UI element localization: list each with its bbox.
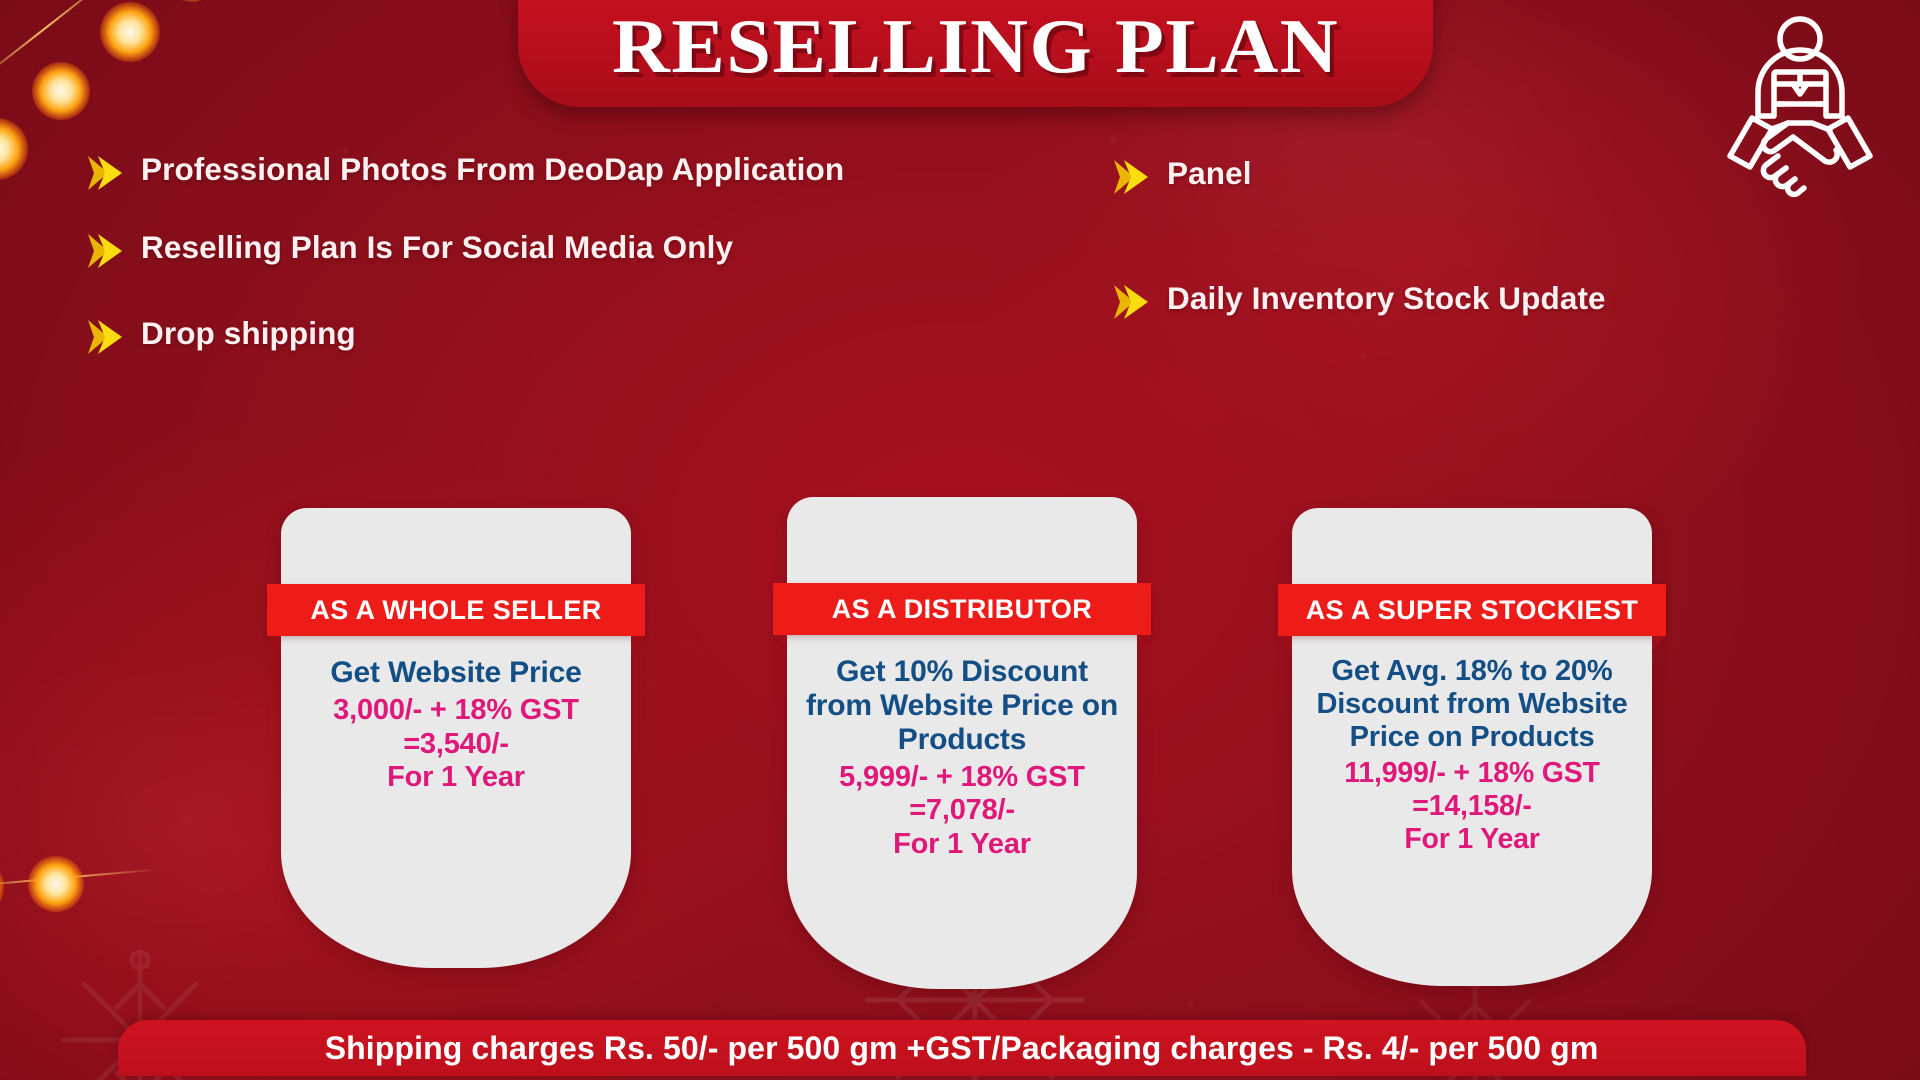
light-bulb bbox=[0, 118, 28, 180]
plan-duration-line: For 1 Year bbox=[295, 761, 617, 795]
pricing-card-group: AS A WHOLE SELLER Get Website Price 3,00… bbox=[0, 497, 1920, 989]
feature-label: Professional Photos From DeoDap Applicat… bbox=[141, 150, 844, 188]
ribbon-fold-right bbox=[1652, 636, 1666, 652]
plan-duration-line: For 1 Year bbox=[801, 828, 1123, 862]
feature-column-left: Professional Photos From DeoDap Applicat… bbox=[86, 150, 1036, 403]
plan-total-line: =7,078/- bbox=[801, 794, 1123, 828]
feature-item: Drop shipping bbox=[86, 314, 1036, 356]
light-bulb bbox=[100, 2, 160, 62]
plan-headline: Get Website Price bbox=[295, 656, 617, 690]
light-bulb bbox=[32, 62, 90, 120]
plan-body: Get Avg. 18% to 20% Discount from Websit… bbox=[1292, 655, 1652, 856]
double-chevron-right-icon bbox=[1112, 283, 1154, 321]
double-chevron-right-icon bbox=[86, 154, 128, 192]
plan-title: AS A WHOLE SELLER bbox=[310, 595, 601, 626]
poster-canvas: RESELLING PLAN bbox=[0, 0, 1920, 1080]
ribbon-fold-left bbox=[1278, 636, 1292, 652]
ribbon-fold-right bbox=[1137, 635, 1151, 651]
double-chevron-right-icon bbox=[86, 318, 128, 356]
double-chevron-right-icon bbox=[1112, 158, 1154, 196]
feature-item: Professional Photos From DeoDap Applicat… bbox=[86, 150, 1036, 192]
plan-total-line: =14,158/- bbox=[1306, 790, 1638, 823]
plan-ribbon: AS A SUPER STOCKIEST bbox=[1278, 584, 1666, 636]
feature-label: Drop shipping bbox=[141, 314, 356, 352]
title-banner: RESELLING PLAN bbox=[518, 0, 1433, 107]
double-chevron-right-icon bbox=[86, 232, 128, 270]
pricing-card-distributor[interactable]: AS A DISTRIBUTOR Get 10% Discount from W… bbox=[787, 497, 1137, 989]
feature-label: Reselling Plan Is For Social Media Only bbox=[141, 228, 733, 266]
feature-label: Panel bbox=[1167, 154, 1252, 192]
light-bulb bbox=[166, 0, 218, 2]
plan-price-line: 11,999/- + 18% GST bbox=[1306, 757, 1638, 790]
plan-headline: Get Avg. 18% to 20% Discount from Websit… bbox=[1306, 655, 1638, 753]
pricing-card-super-stockiest[interactable]: AS A SUPER STOCKIEST Get Avg. 18% to 20%… bbox=[1292, 508, 1652, 986]
pricing-card-whole-seller[interactable]: AS A WHOLE SELLER Get Website Price 3,00… bbox=[281, 508, 631, 968]
ribbon-fold-left bbox=[267, 636, 281, 652]
plan-ribbon: AS A DISTRIBUTOR bbox=[773, 583, 1151, 635]
feature-label: Daily Inventory Stock Update bbox=[1167, 279, 1606, 317]
plan-ribbon: AS A WHOLE SELLER bbox=[267, 584, 645, 636]
ribbon-fold-left bbox=[773, 635, 787, 651]
ribbon-fold-right bbox=[631, 636, 645, 652]
plan-title: AS A DISTRIBUTOR bbox=[832, 594, 1092, 625]
feature-item: Daily Inventory Stock Update bbox=[1112, 279, 1852, 321]
plan-price-line: 3,000/- + 18% GST bbox=[295, 694, 617, 728]
plan-headline: Get 10% Discount from Website Price on P… bbox=[801, 655, 1123, 757]
page-title: RESELLING PLAN bbox=[612, 8, 1339, 107]
shipping-charges-bar: Shipping charges Rs. 50/- per 500 gm +GS… bbox=[118, 1020, 1806, 1076]
feature-item: Panel bbox=[1112, 154, 1852, 196]
plan-duration-line: For 1 Year bbox=[1306, 823, 1638, 856]
feature-item: Reselling Plan Is For Social Media Only bbox=[86, 228, 1036, 270]
plan-title: AS A SUPER STOCKIEST bbox=[1306, 595, 1639, 626]
plan-body: Get Website Price 3,000/- + 18% GST =3,5… bbox=[281, 656, 631, 795]
feature-column-right: Panel Daily Inventory Stock Update bbox=[1112, 154, 1852, 368]
plan-total-line: =3,540/- bbox=[295, 728, 617, 762]
plan-price-line: 5,999/- + 18% GST bbox=[801, 761, 1123, 795]
shipping-charges-text: Shipping charges Rs. 50/- per 500 gm +GS… bbox=[325, 1030, 1599, 1067]
plan-body: Get 10% Discount from Website Price on P… bbox=[787, 655, 1137, 862]
